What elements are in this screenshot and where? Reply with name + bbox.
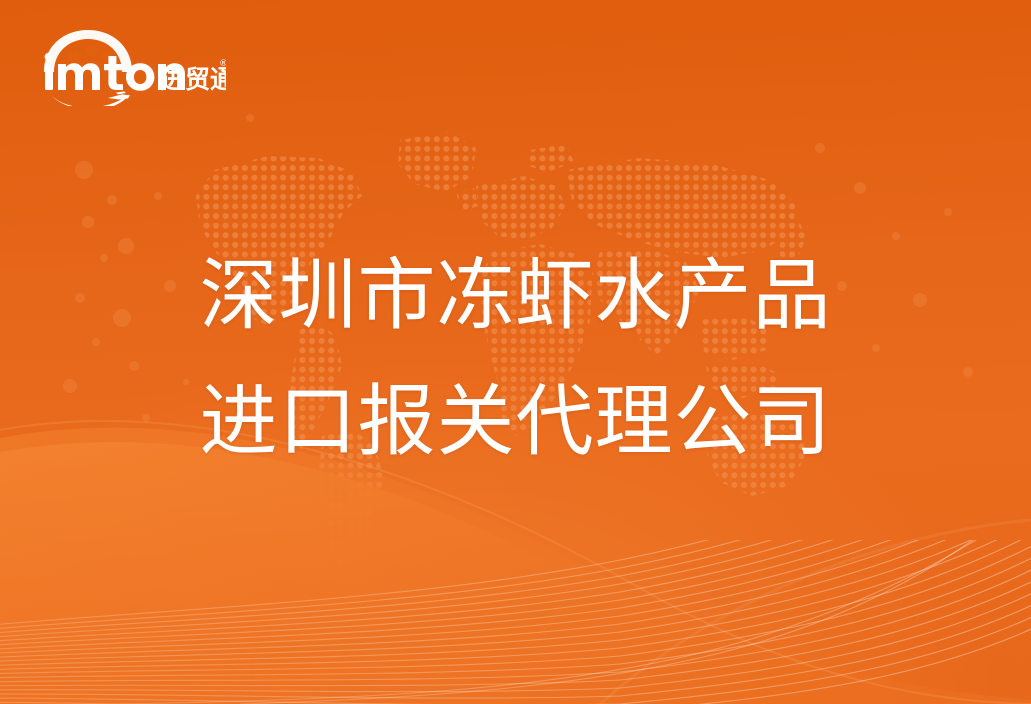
swoosh-icon (50, 91, 130, 106)
headline-line-2: 进口报关代理公司 (0, 358, 1031, 484)
promo-banner: 进贸通 ® 深圳市冻虾水产品 进口报关代理公司 (0, 0, 1031, 704)
headline-line-1: 深圳市冻虾水产品 (0, 232, 1031, 358)
logo-chinese-text: 进贸通 (160, 65, 226, 94)
imton-logo[interactable]: 进贸通 ® (36, 26, 226, 106)
trademark-icon: ® (219, 59, 226, 69)
headline-block: 深圳市冻虾水产品 进口报关代理公司 (0, 232, 1031, 485)
